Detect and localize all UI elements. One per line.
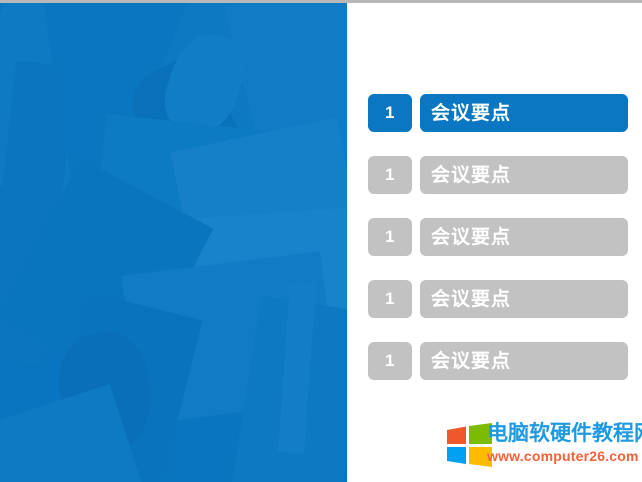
- list-item[interactable]: 1 会议要点: [368, 218, 628, 256]
- item-label-bar[interactable]: 会议要点: [420, 156, 628, 194]
- slide-canvas: 1 会议要点 1 会议要点 1 会议要点 1 会议要点 1: [0, 0, 642, 482]
- item-number-badge: 1: [368, 342, 412, 380]
- photo-panel: [0, 3, 347, 482]
- item-number-badge: 1: [368, 218, 412, 256]
- item-number-badge: 1: [368, 280, 412, 318]
- item-label: 会议要点: [431, 228, 511, 247]
- item-label-bar[interactable]: 会议要点: [420, 94, 628, 132]
- list-item[interactable]: 1 会议要点: [368, 94, 628, 132]
- item-label-bar[interactable]: 会议要点: [420, 342, 628, 380]
- item-label: 会议要点: [431, 104, 511, 123]
- item-label-bar[interactable]: 会议要点: [420, 218, 628, 256]
- item-number-badge: 1: [368, 156, 412, 194]
- item-label: 会议要点: [431, 166, 511, 185]
- watermark-text: 电脑软硬件教程网 www.computer26.com: [487, 421, 635, 466]
- item-label: 会议要点: [431, 352, 511, 371]
- item-number-badge: 1: [368, 94, 412, 132]
- list-item[interactable]: 1 会议要点: [368, 280, 628, 318]
- list-item[interactable]: 1 会议要点: [368, 342, 628, 380]
- agenda-list: 1 会议要点 1 会议要点 1 会议要点 1 会议要点 1: [368, 94, 628, 380]
- watermark-logo: 电脑软硬件教程网 www.computer26.com: [447, 421, 633, 473]
- item-label: 会议要点: [431, 290, 511, 309]
- item-label-bar[interactable]: 会议要点: [420, 280, 628, 318]
- watermark-url: www.computer26.com: [487, 446, 635, 466]
- list-item[interactable]: 1 会议要点: [368, 156, 628, 194]
- photo-blue-overlay: [0, 3, 347, 482]
- watermark-brand: 电脑软硬件教程网: [487, 421, 635, 446]
